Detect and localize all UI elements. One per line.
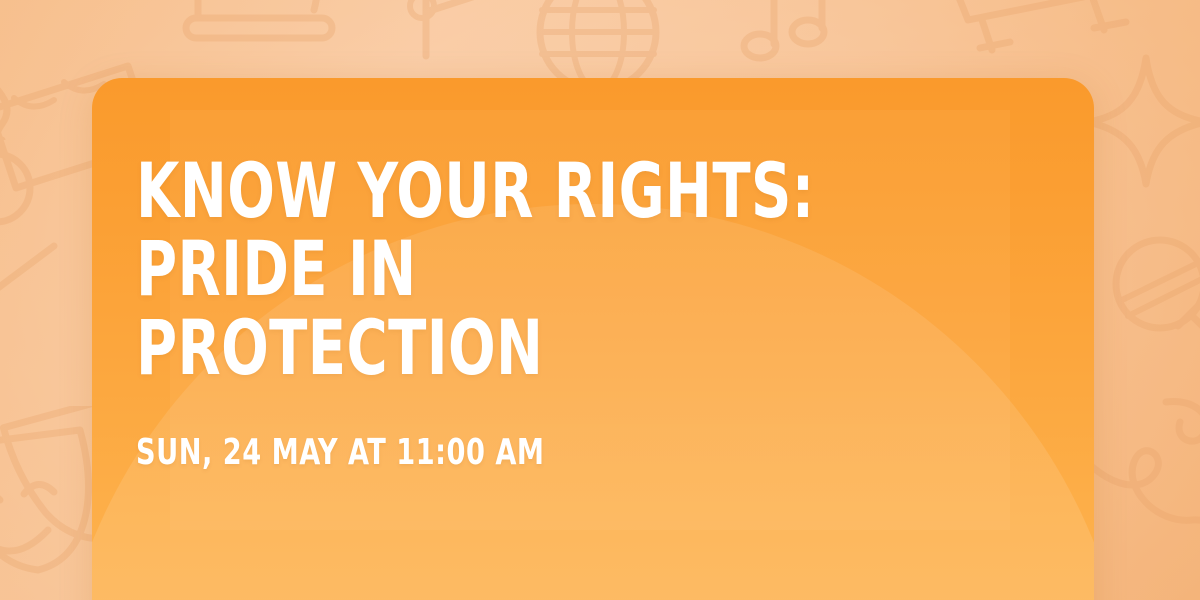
event-card: Know Your Rights: Pride in Protection Su… bbox=[92, 78, 1094, 600]
confetti-icon bbox=[0, 236, 80, 306]
sparkle-icon bbox=[1094, 50, 1200, 190]
podium-icon bbox=[178, 0, 358, 82]
event-datetime: Sun, 24 May at 11:00 AM bbox=[136, 433, 941, 473]
card-content: Know Your Rights: Pride in Protection Su… bbox=[92, 78, 1094, 600]
confetti-icon bbox=[392, 0, 452, 36]
music-note-icon bbox=[728, 0, 848, 78]
event-title: Know Your Rights: Pride in Protection bbox=[136, 152, 922, 387]
event-banner: Know Your Rights: Pride in Protection Su… bbox=[0, 0, 1200, 600]
microphone-icon bbox=[1104, 232, 1200, 382]
